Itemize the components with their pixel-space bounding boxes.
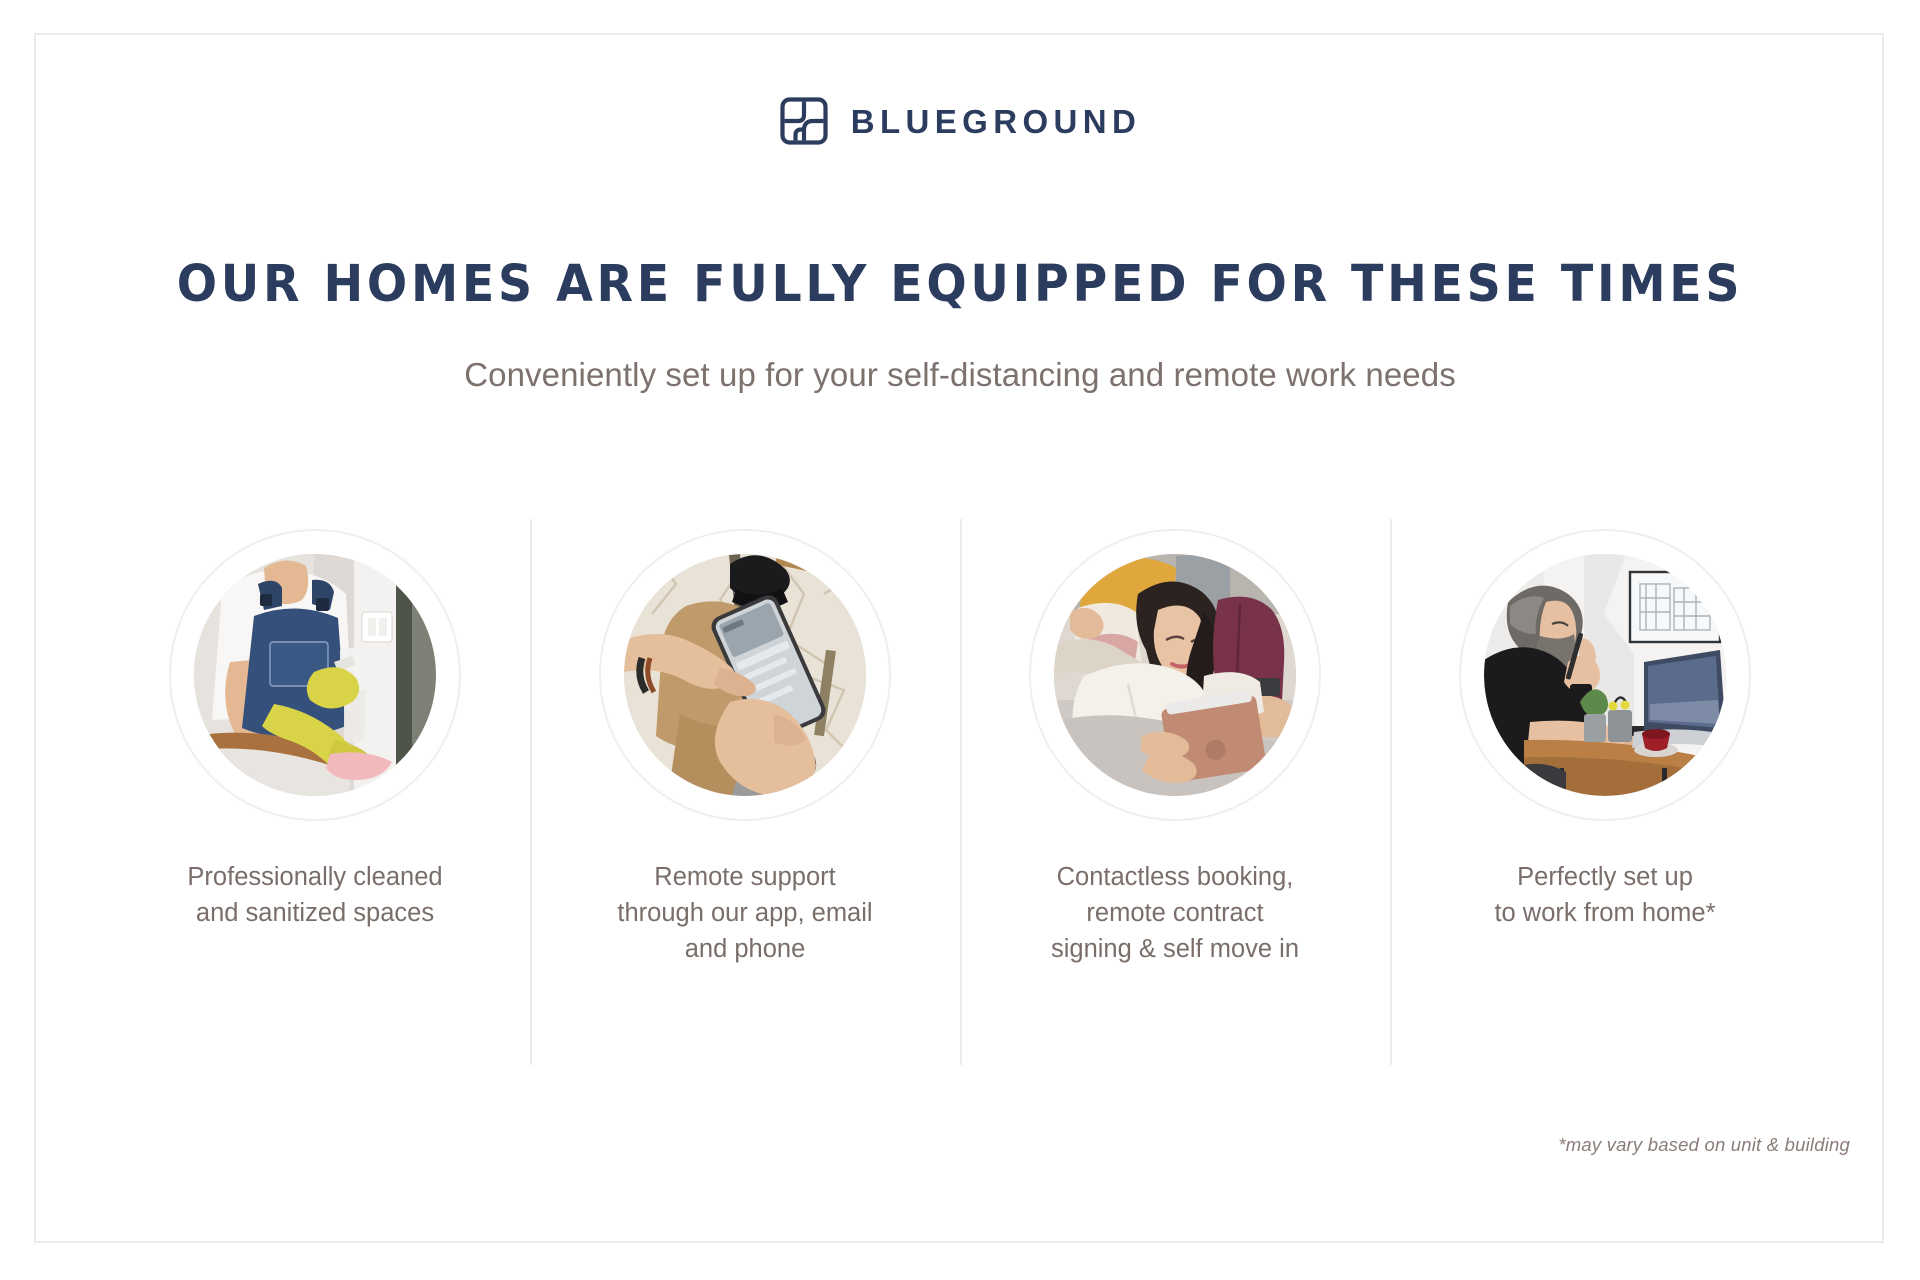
feature-image-ring: [1029, 529, 1321, 821]
feature-image-cleaning: [194, 554, 436, 796]
tablet-in-bed-photo-illustration: [1054, 554, 1296, 796]
brand-logo: BLUEGROUND: [0, 96, 1920, 146]
page-subtitle: Conveniently set up for your self-distan…: [0, 354, 1920, 397]
feature-column-remote-support: Remote support through our app, email an…: [530, 519, 960, 1065]
feature-image-workspace: [1484, 554, 1726, 796]
feature-image-ring: [599, 529, 891, 821]
feature-columns: Professionally cleaned and sanitized spa…: [100, 519, 1820, 1065]
feature-image-phone: [624, 554, 866, 796]
blueground-square-mark-icon: [779, 96, 829, 146]
cleaning-photo-illustration: [194, 554, 436, 796]
brand-wordmark: BLUEGROUND: [851, 105, 1142, 138]
page-title: OUR HOMES ARE FULLY EQUIPPED FOR THESE T…: [67, 258, 1853, 312]
feature-caption: Remote support through our app, email an…: [580, 859, 910, 968]
infographic-page: BLUEGROUND OUR HOMES ARE FULLY EQUIPPED …: [0, 0, 1920, 1280]
feature-column-cleaning: Professionally cleaned and sanitized spa…: [100, 519, 530, 1065]
feature-image-ring: [1459, 529, 1751, 821]
feature-caption: Contactless booking, remote contract sig…: [1010, 859, 1340, 968]
feature-image-ring: [169, 529, 461, 821]
feature-caption: Perfectly set up to work from home*: [1440, 859, 1770, 931]
feature-caption: Professionally cleaned and sanitized spa…: [150, 859, 480, 931]
work-from-home-photo-illustration: [1484, 554, 1726, 796]
feature-column-contactless-booking: Contactless booking, remote contract sig…: [960, 519, 1390, 1065]
feature-image-tablet: [1054, 554, 1296, 796]
phone-app-photo-illustration: [624, 554, 866, 796]
footnote-disclaimer: *may vary based on unit & building: [1558, 1134, 1850, 1156]
feature-column-work-from-home: Perfectly set up to work from home*: [1390, 519, 1820, 1065]
